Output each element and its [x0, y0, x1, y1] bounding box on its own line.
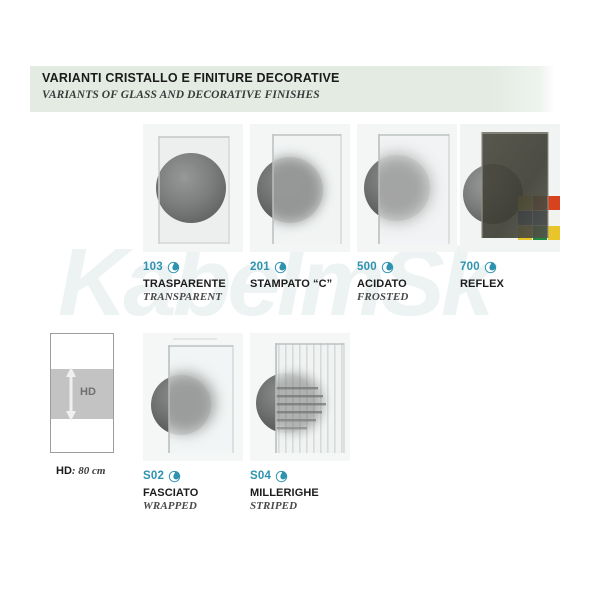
sample-code: S04 [250, 470, 271, 482]
sample-image-trasparente [143, 124, 243, 252]
glass-sample-clear-illustration [143, 124, 243, 252]
sample-name-en: FROSTED [357, 291, 487, 303]
sample-code: S02 [143, 470, 164, 482]
glass-sample-frosted-illustration [357, 124, 457, 252]
sample-name-en: STRIPED [250, 500, 380, 512]
hd-caption: HD: 80 cm [56, 465, 106, 477]
glass-sample-striped-illustration [250, 333, 350, 461]
sample-code: 201 [250, 261, 270, 273]
sample-image-fasciato [143, 333, 243, 461]
sample-image-reflex [460, 124, 560, 252]
sample-code: 700 [460, 261, 480, 273]
droplet-icon [381, 261, 394, 274]
sample-code: 103 [143, 261, 163, 273]
sample-code-row: 700 [460, 260, 590, 274]
sample-code-row: S04 [250, 469, 380, 483]
hd-label: HD [80, 386, 96, 398]
sample-code: 500 [357, 261, 377, 273]
sample-caption-millerighe: S04 MILLERIGHE STRIPED [250, 469, 380, 512]
hd-panel-outline: HD [50, 333, 114, 453]
glass-sample-reflex-illustration [460, 124, 560, 252]
sample-image-millerighe [250, 333, 350, 461]
sample-name-it: MILLERIGHE [250, 487, 380, 499]
sample-caption-reflex: 700 REFLEX [460, 260, 590, 291]
page-subtitle: VARIANTS OF GLASS AND DECORATIVE FINISHE… [42, 89, 320, 101]
droplet-icon [167, 261, 180, 274]
hd-caption-value: : 80 cm [72, 465, 106, 477]
sample-image-stampato-c [250, 124, 350, 252]
sample-name-it: REFLEX [460, 278, 590, 290]
droplet-icon [484, 261, 497, 274]
hd-caption-label: HD [56, 465, 72, 477]
page-title: VARIANTI CRISTALLO E FINITURE DECORATIVE [42, 71, 340, 85]
droplet-icon [274, 261, 287, 274]
droplet-icon [275, 470, 288, 483]
glass-sample-printed-illustration [250, 124, 350, 252]
sample-name-en: TRANSPARENT [143, 291, 273, 303]
sample-image-acidato [357, 124, 457, 252]
section-header-band: VARIANTI CRISTALLO E FINITURE DECORATIVE… [30, 66, 555, 112]
droplet-icon [168, 470, 181, 483]
catalog-page: KabelmSk VARIANTI CRISTALLO E FINITURE D… [0, 0, 600, 600]
glass-sample-wrapped-illustration [143, 333, 243, 461]
